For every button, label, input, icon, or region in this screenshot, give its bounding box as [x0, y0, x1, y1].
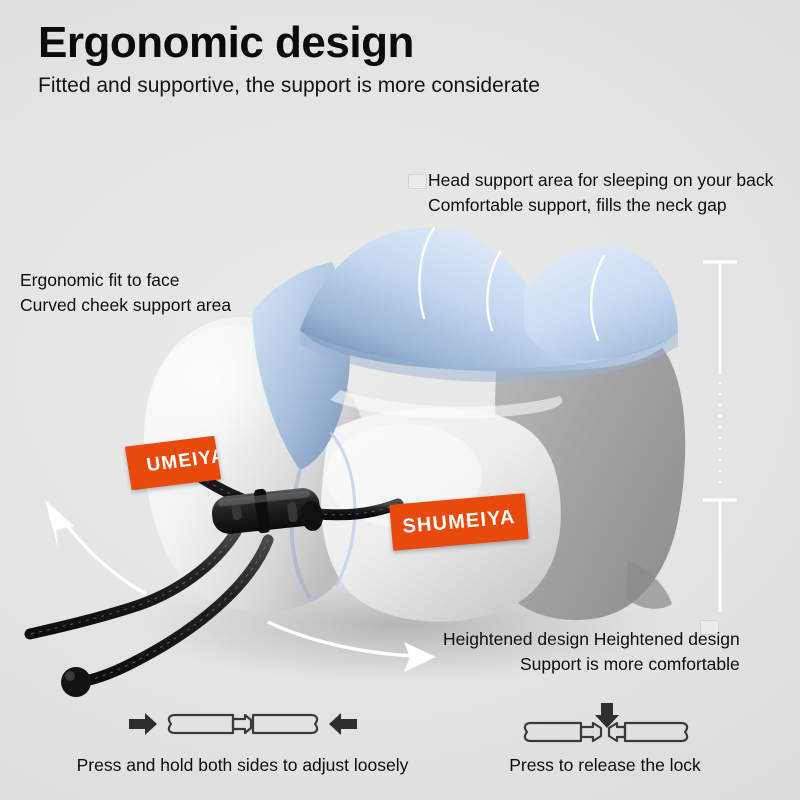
direction-arrow-left: [66, 524, 146, 594]
annotation-heightened-line2: Support is more comfortable: [443, 652, 740, 677]
height-measure-bracket: [690, 252, 750, 652]
annotation-face-fit-line2: Curved cheek support area: [20, 293, 231, 318]
watermark-chip-icon: [408, 174, 427, 189]
page-title: Ergonomic design: [38, 18, 414, 68]
leader-line-group: [419, 228, 604, 340]
annotation-head-support-line1: Head support area for sleeping on your b…: [428, 168, 773, 193]
instruction-release-caption: Press to release the lock: [509, 755, 701, 776]
brand-label-right-text: SHUMEIYA: [402, 506, 517, 539]
product-infographic: Ergonomic design Fitted and supportive, …: [0, 0, 800, 800]
brand-label-right: SHUMEIYA: [389, 493, 528, 551]
cord-end-bead: [61, 667, 91, 697]
brand-label-left: UMEIYA: [125, 436, 221, 490]
buckle-squeeze-icon: [123, 701, 363, 747]
annotation-face-fit: Ergonomic fit to face Curved cheek suppo…: [20, 268, 231, 318]
arrow-head-left: [45, 500, 74, 548]
buckle-press-down-icon: [485, 701, 725, 747]
brand-label-left-text: UMEIYA: [145, 446, 221, 477]
neck-pillow-illustration: [0, 0, 800, 800]
instruction-release: Press to release the lock: [440, 701, 770, 776]
cord-braid-texture: [30, 452, 398, 682]
drawstring-cord: [30, 452, 398, 682]
instruction-adjust-caption: Press and hold both sides to adjust loos…: [77, 755, 409, 776]
page-subtitle: Fitted and supportive, the support is mo…: [38, 74, 540, 98]
arrow-head-right: [404, 642, 436, 672]
instruction-adjust: Press and hold both sides to adjust loos…: [55, 701, 430, 776]
annotation-face-fit-line1: Ergonomic fit to face: [20, 268, 231, 293]
cord-lock-buckle: [210, 486, 324, 535]
annotation-head-support-line2: Comfortable support, fills the neck gap: [428, 193, 773, 218]
annotation-head-support: Head support area for sleeping on your b…: [428, 168, 773, 218]
direction-arrow-right: [268, 622, 414, 656]
